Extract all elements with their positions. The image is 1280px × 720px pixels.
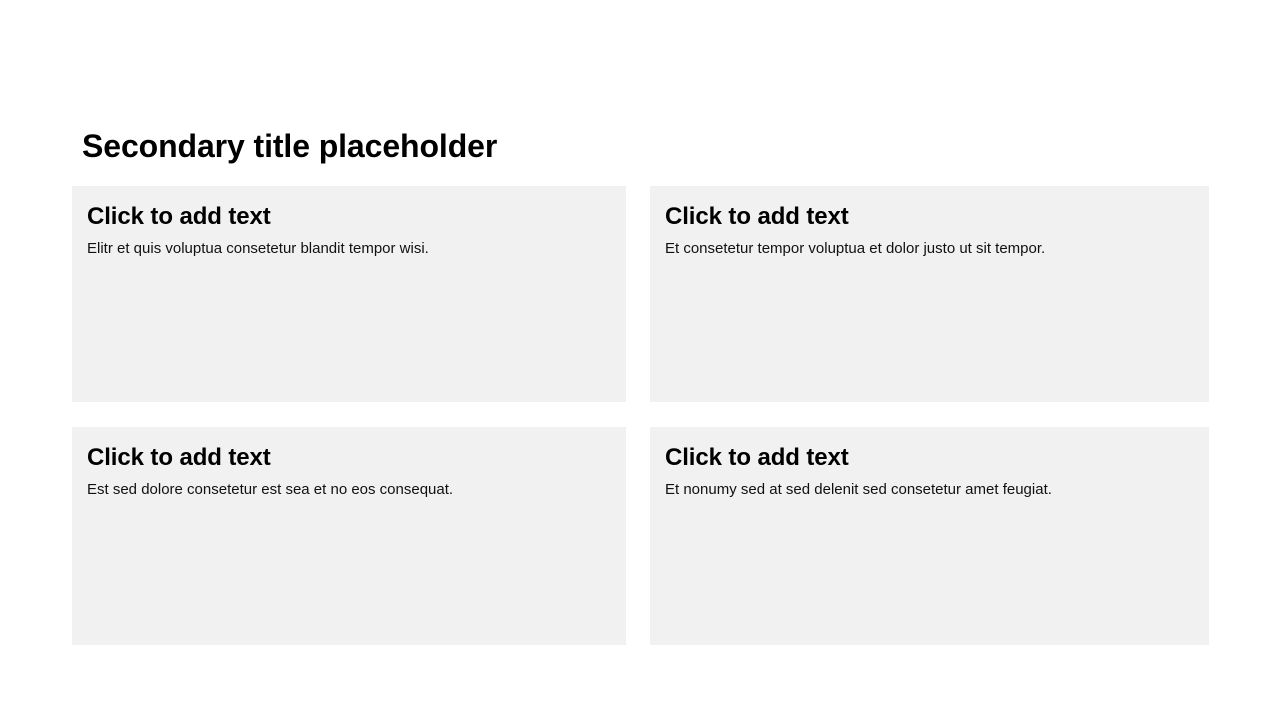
page-title[interactable]: Secondary title placeholder bbox=[82, 126, 1202, 166]
content-card-1[interactable]: Click to add text Elitr et quis voluptua… bbox=[72, 186, 626, 402]
content-card-3[interactable]: Click to add text Est sed dolore consete… bbox=[72, 427, 626, 645]
content-card-2[interactable]: Click to add text Et consetetur tempor v… bbox=[650, 186, 1209, 402]
card-body-text[interactable]: Est sed dolore consetetur est sea et no … bbox=[87, 479, 610, 500]
content-card-4[interactable]: Click to add text Et nonumy sed at sed d… bbox=[650, 427, 1209, 645]
card-heading[interactable]: Click to add text bbox=[87, 443, 610, 473]
card-body-text[interactable]: Elitr et quis voluptua consetetur blandi… bbox=[87, 238, 610, 259]
content-grid: Click to add text Elitr et quis voluptua… bbox=[72, 186, 1209, 645]
slide-canvas: Secondary title placeholder Click to add… bbox=[0, 0, 1280, 720]
card-heading[interactable]: Click to add text bbox=[87, 202, 610, 232]
card-heading[interactable]: Click to add text bbox=[665, 443, 1193, 473]
card-heading[interactable]: Click to add text bbox=[665, 202, 1193, 232]
card-body-text[interactable]: Et consetetur tempor voluptua et dolor j… bbox=[665, 238, 1193, 259]
card-body-text[interactable]: Et nonumy sed at sed delenit sed consete… bbox=[665, 479, 1193, 500]
